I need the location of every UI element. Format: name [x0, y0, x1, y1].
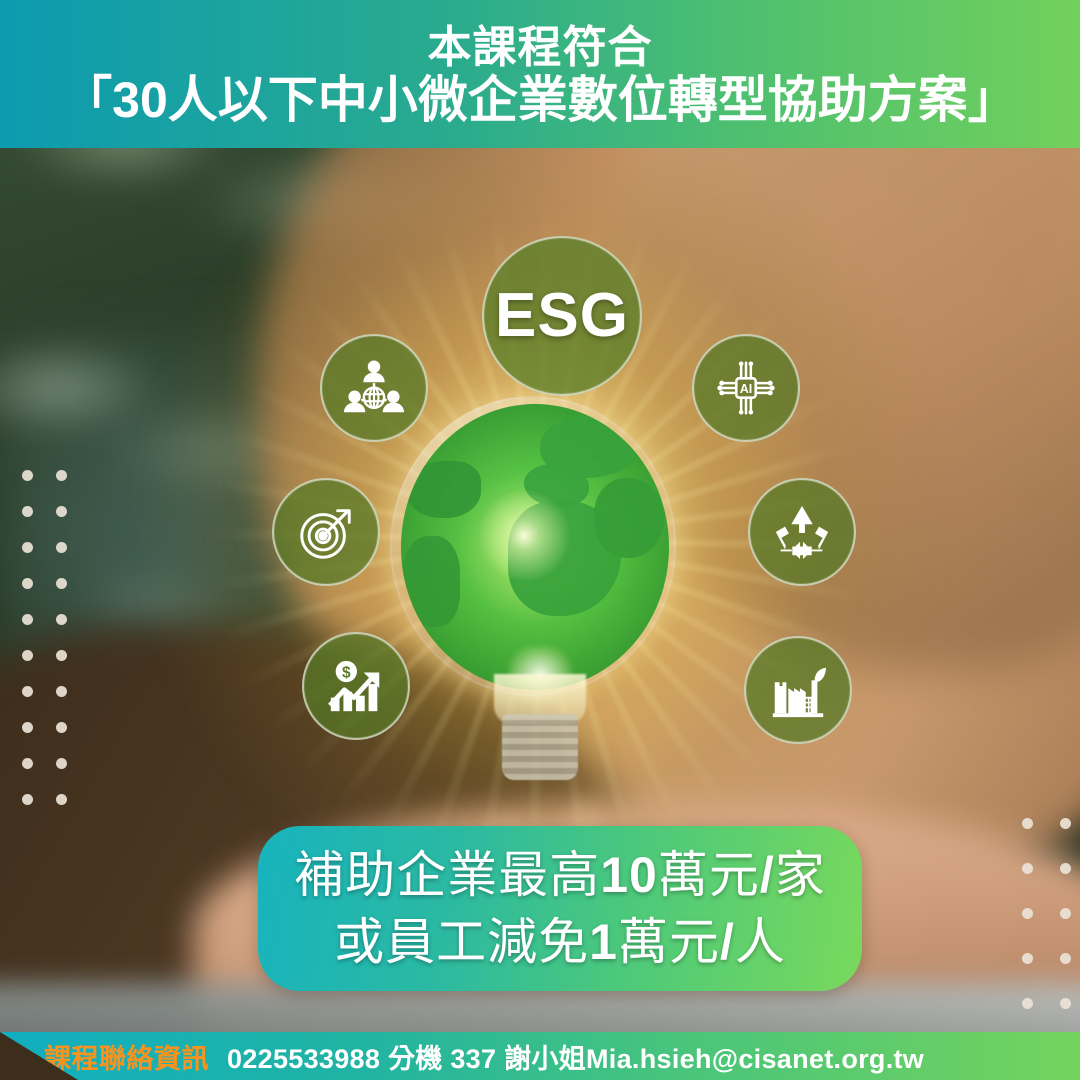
badge-factory [744, 636, 852, 744]
header-banner: 本課程符合 「30人以下中小微企業數位轉型協助方案」 [0, 0, 1080, 148]
decorative-dot [56, 542, 67, 553]
target-arrow-icon [295, 501, 357, 563]
decorative-dot [22, 506, 33, 517]
subsidy-l2-suffix: 萬元 [618, 914, 720, 970]
subsidy-pill: 補助企業最高10萬元/家 或員工減免1萬元/人 [258, 826, 862, 991]
header-line-1: 本課程符合 [428, 24, 653, 72]
badge-target [272, 478, 380, 586]
badge-recycle [748, 478, 856, 586]
poster-root: ESG AI [0, 0, 1080, 1080]
ai-chip-icon: AI [715, 357, 777, 419]
subsidy-l1-prefix: 補助企業最高 [294, 847, 600, 903]
decorative-dot [1060, 998, 1071, 1009]
decorative-dot [1060, 953, 1071, 964]
subsidy-l1-amount: 10 [600, 847, 658, 903]
contact-bar: 課程聯絡資訊 0225533988 分機 337 謝小姐Mia.hsieh@ci… [0, 1032, 1080, 1080]
subsidy-l2-unit: 人 [735, 914, 786, 970]
decorative-dot [1060, 818, 1071, 829]
decorative-dot [56, 686, 67, 697]
decorative-dot [1060, 908, 1071, 919]
decorative-dot [1022, 863, 1033, 874]
decorative-dot [56, 722, 67, 733]
decorative-dot [22, 794, 33, 805]
decorative-dot [22, 578, 33, 589]
decorative-dot [1022, 908, 1033, 919]
header-line-2: 「30人以下中小微企業數位轉型協助方案」 [62, 72, 1018, 128]
contact-label: 課程聯絡資訊 [44, 1037, 209, 1076]
decorative-dot [1060, 863, 1071, 874]
decorative-dot [56, 614, 67, 625]
social-people-network-icon [343, 357, 405, 419]
decorative-dot [1022, 998, 1033, 1009]
decorative-dot [56, 578, 67, 589]
decorative-dot [56, 650, 67, 661]
subsidy-l1-unit: 家 [775, 847, 826, 903]
badge-social [320, 334, 428, 442]
decorative-dot [22, 614, 33, 625]
bulb-screw-base [502, 714, 578, 780]
decorative-dot [1022, 818, 1033, 829]
contact-info: 0225533988 分機 337 謝小姐Mia.hsieh@cisanet.o… [227, 1037, 924, 1076]
subsidy-line-2: 或員工減免1萬元/人 [334, 909, 786, 976]
decorative-dot [22, 686, 33, 697]
decorative-dot [22, 650, 33, 661]
decorative-dot [56, 794, 67, 805]
subsidy-l2-amount: 1 [589, 914, 618, 970]
decorative-dot [22, 722, 33, 733]
subsidy-l1-suffix: 萬元 [658, 847, 760, 903]
subsidy-l1-slash: / [760, 847, 775, 903]
decorative-dot [22, 470, 33, 481]
growth-chart-dollar-icon: $ [325, 655, 387, 717]
decorative-dot [22, 542, 33, 553]
svg-text:AI: AI [740, 382, 753, 396]
esg-badge: ESG [482, 236, 642, 396]
decorative-dot [1022, 953, 1033, 964]
subsidy-l2-prefix: 或員工減免 [334, 914, 589, 970]
badge-growth: $ [302, 632, 410, 740]
light-bulb-globe [390, 396, 690, 796]
decorative-dot [22, 758, 33, 769]
decorative-dot [56, 506, 67, 517]
eco-factory-leaf-icon [767, 659, 829, 721]
decorative-dot [56, 758, 67, 769]
recycle-icon [771, 501, 833, 563]
subsidy-l2-slash: / [720, 914, 735, 970]
esg-label: ESG [495, 285, 629, 347]
badge-ai: AI [692, 334, 800, 442]
decorative-dot [56, 470, 67, 481]
svg-text:$: $ [342, 664, 351, 681]
subsidy-line-1: 補助企業最高10萬元/家 [294, 842, 826, 909]
